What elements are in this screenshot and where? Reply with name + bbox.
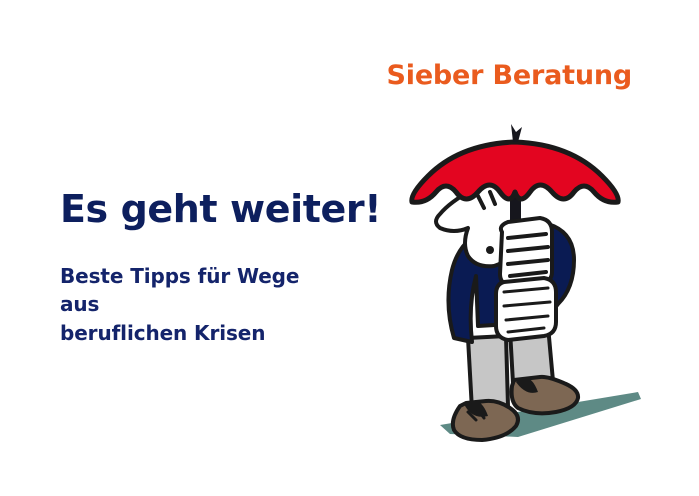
page-title: Es geht weiter!	[60, 190, 390, 230]
hands-icon	[496, 218, 556, 340]
umbrella-canopy-icon	[412, 124, 618, 202]
subtitle: Beste Tipps für Wege aus beruflichen Kri…	[60, 262, 325, 347]
illustration-svg	[398, 120, 658, 450]
text-block: Es geht weiter! Beste Tipps für Wege aus…	[60, 190, 390, 347]
subtitle-line-1: Beste Tipps für Wege aus	[60, 264, 299, 316]
subtitle-line-2: beruflichen Krisen	[60, 321, 265, 345]
illustration-person-with-red-umbrella	[398, 120, 658, 450]
brand-logo-text: Sieber Beratung	[387, 62, 632, 89]
slide-canvas: Sieber Beratung Es geht weiter! Beste Ti…	[0, 0, 699, 496]
